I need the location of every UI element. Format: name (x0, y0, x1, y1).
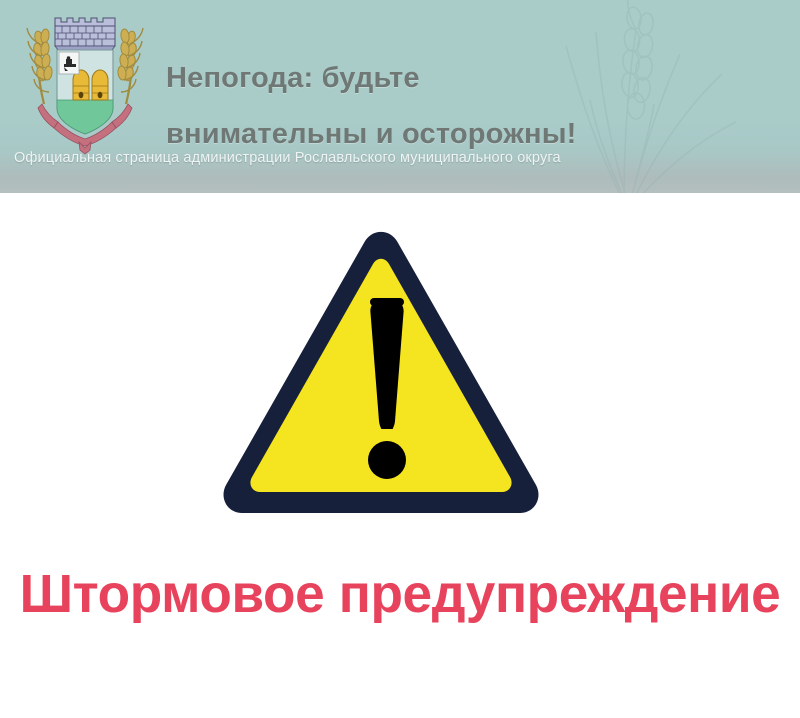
storm-warning-announcement: Непогода: будьте внимательны и осторожны… (0, 0, 800, 718)
site-header-banner: Непогода: будьте внимательны и осторожны… (0, 0, 800, 193)
storm-warning-headline: Штормовое предупреждение (6, 563, 794, 625)
warning-triangle-icon (214, 228, 548, 513)
page-title: Непогода: будьте внимательны и осторожны… (166, 50, 766, 162)
coat-of-arms-icon (24, 8, 146, 156)
main-content-area: Штормовое предупреждение (0, 193, 800, 718)
page-subtitle: Официальная страница администрации Росла… (14, 150, 794, 166)
